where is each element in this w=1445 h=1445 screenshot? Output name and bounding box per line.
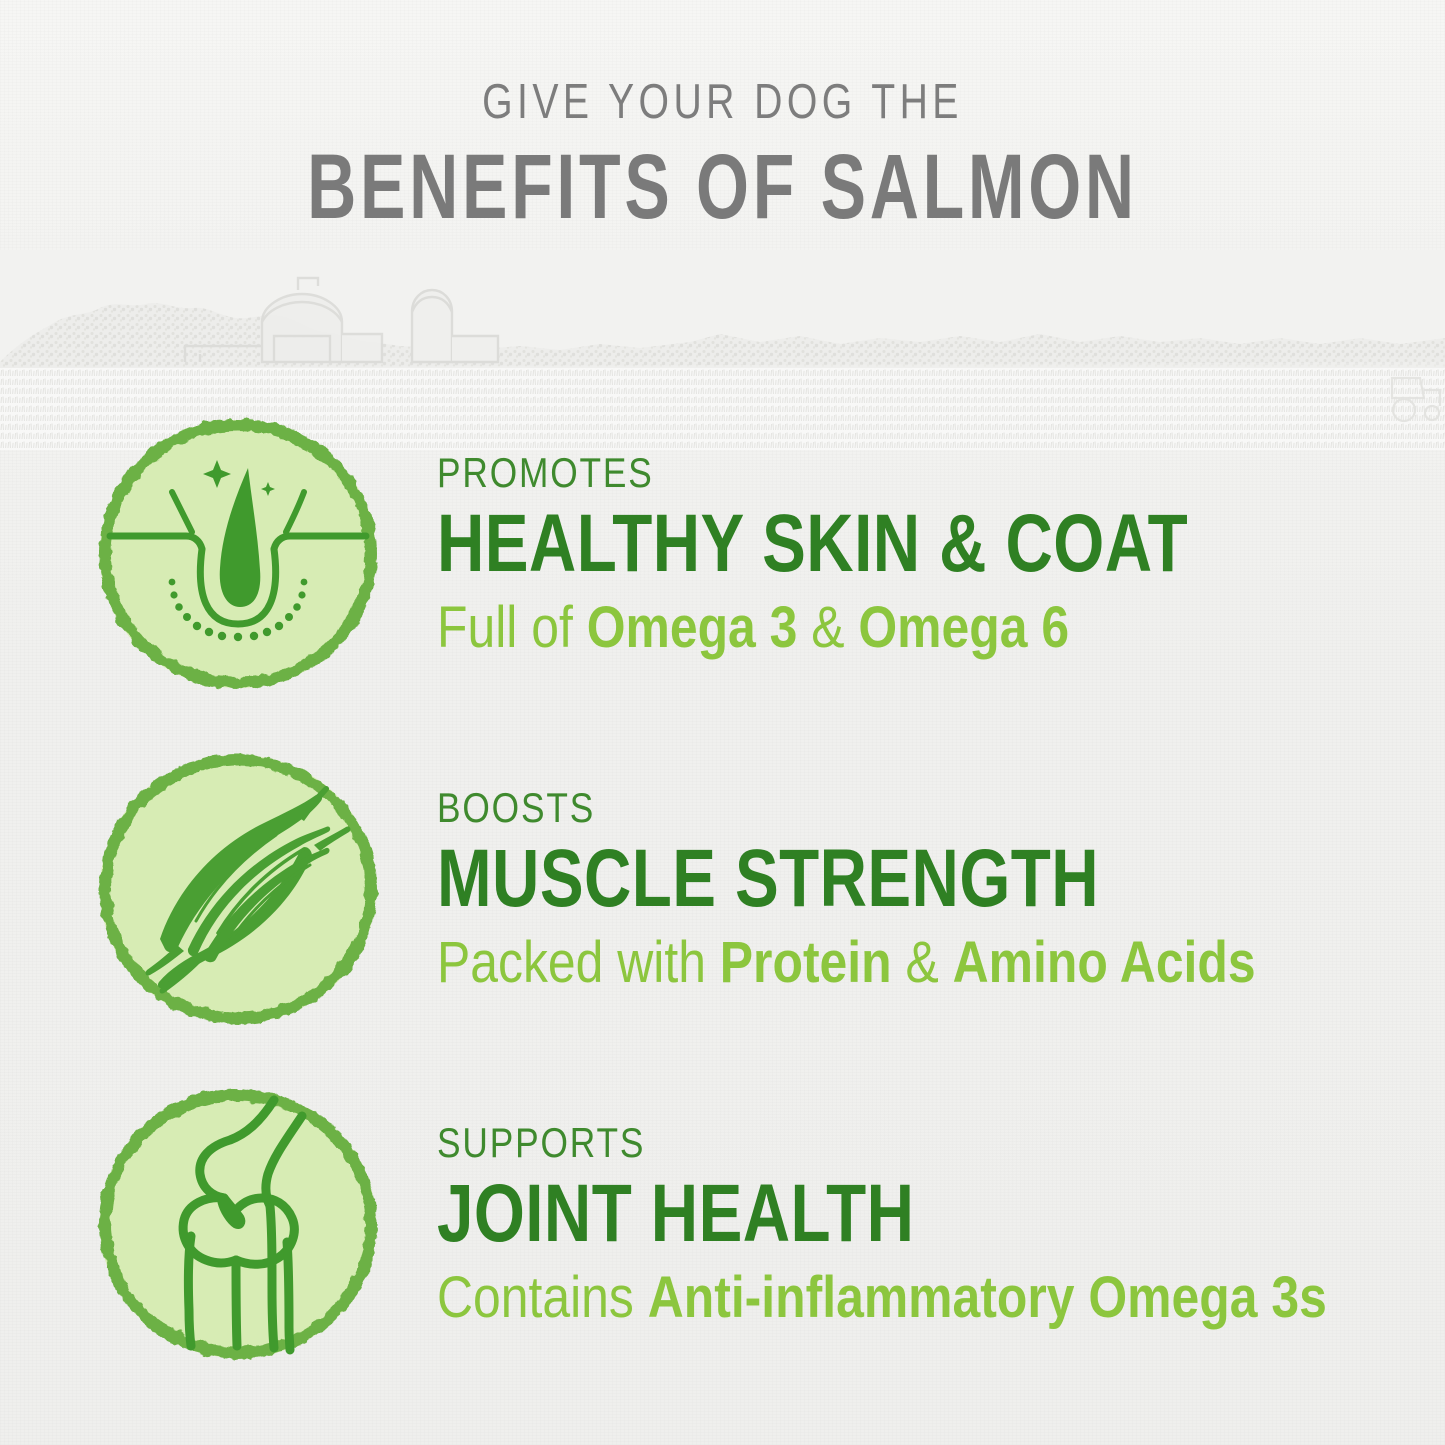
subtitle-part: Contains [437,1265,648,1330]
barn-silhouette [185,278,382,362]
badge-joint [88,1078,388,1370]
benefit-text-joint: SUPPORTS JOINT HEALTH Contains Anti-infl… [437,1122,1427,1329]
benefit-title: HEALTHY SKIN & COAT [437,502,1229,586]
subtitle-part-emphasis: Omega 3 [587,595,798,660]
benefit-row-joint: SUPPORTS JOINT HEALTH Contains Anti-infl… [0,1078,1445,1378]
benefit-eyebrow: PROMOTES [437,452,1269,494]
benefit-eyebrow: SUPPORTS [437,1122,1269,1164]
page-title: BENEFITS OF SALMON [188,141,1257,233]
subtitle-part: Packed with [437,930,720,995]
subtitle-part-emphasis: Amino Acids [953,930,1256,995]
muscle-fiber-icon [88,743,388,1035]
benefit-row-muscle: BOOSTS MUSCLE STRENGTH Packed with Prote… [0,743,1445,1043]
benefit-subtitle: Contains Anti-inflammatory Omega 3s [437,1268,1288,1329]
badge-muscle [88,743,388,1035]
benefit-subtitle: Packed with Protein & Amino Acids [437,933,1288,994]
benefit-row-skin-coat: PROMOTES HEALTHY SKIN & COAT Full of Ome… [0,408,1445,708]
subtitle-part: & [892,930,953,995]
benefits-infographic: GIVE YOUR DOG THE BENEFITS OF SALMON [0,0,1445,1445]
subtitle-part: & [797,595,858,660]
header: GIVE YOUR DOG THE BENEFITS OF SALMON [0,78,1445,233]
benefit-subtitle: Full of Omega 3 & Omega 6 [437,598,1288,659]
knee-joint-bone-icon [88,1078,388,1370]
benefit-title: JOINT HEALTH [437,1172,1229,1256]
benefit-text-skin-coat: PROMOTES HEALTHY SKIN & COAT Full of Ome… [437,452,1427,659]
header-kicker: GIVE YOUR DOG THE [145,78,1301,127]
subtitle-part-emphasis: Protein [720,930,892,995]
subtitle-part-emphasis: Omega 6 [858,595,1069,660]
treeline [0,303,1445,370]
subtitle-part-emphasis: Anti-inflammatory Omega 3s [648,1265,1327,1330]
benefit-title: MUSCLE STRENGTH [437,837,1229,921]
subtitle-part: Full of [437,595,587,660]
benefit-text-muscle: BOOSTS MUSCLE STRENGTH Packed with Prote… [437,787,1427,994]
silo-silhouette [412,290,498,362]
badge-skin-coat [88,408,388,700]
benefit-eyebrow: BOOSTS [437,787,1269,829]
hair-follicle-skin-icon [88,408,388,700]
